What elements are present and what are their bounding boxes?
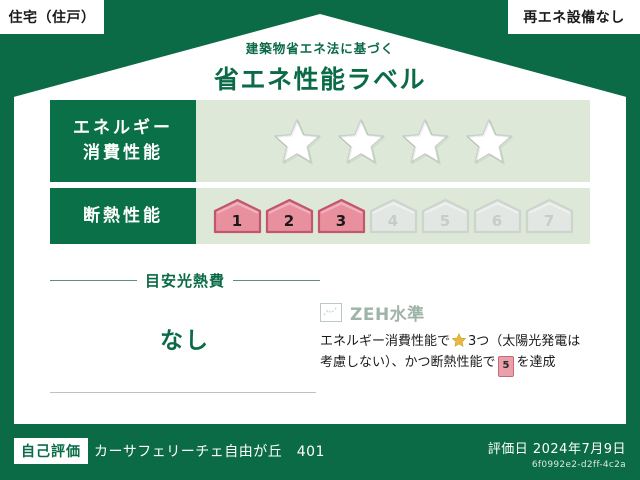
grade-value: 4 — [388, 212, 398, 234]
insulation-performance-row: 断熱性能 1234567 — [50, 188, 590, 244]
rule-right — [233, 280, 320, 281]
insulation-grade-7: 7 — [525, 198, 574, 234]
energy-performance-label-line1: エネルギー — [73, 116, 173, 141]
title-subtitle: 建築物省エネ法に基づく — [36, 38, 604, 57]
section-divider — [50, 392, 316, 393]
inline-star-icon — [451, 332, 467, 348]
zeh-title: ZEH水準 — [350, 300, 425, 325]
grade-value: 6 — [492, 212, 502, 234]
zeh-description: エネルギー消費性能で3つ（太陽光発電は考慮しない）、かつ断熱性能で5を達成 — [320, 331, 590, 377]
grade-value: 7 — [544, 212, 554, 234]
footer: 自己評価 カーサフェリーチェ自由が丘 401 評価日 2024年7月9日 6f0… — [0, 424, 640, 480]
rule-left — [50, 280, 137, 281]
star-empty-icon — [462, 115, 516, 167]
evaluation-id: 6f0992e2-d2ff-4c2a — [488, 460, 626, 470]
energy-cost-value: なし — [50, 321, 320, 355]
footer-right: 評価日 2024年7月9日 6f0992e2-d2ff-4c2a — [488, 438, 626, 470]
zeh-desc-part3: を達成 — [516, 355, 555, 370]
building-type-tag: 住宅（住戸） — [0, 0, 104, 34]
star-empty-icon — [334, 115, 388, 167]
grade-value: 3 — [336, 212, 346, 234]
grade-value: 2 — [284, 212, 294, 234]
energy-cost-section: 目安光熱費 なし — [50, 252, 320, 410]
zeh-heading: ZEH水準 — [320, 300, 590, 325]
insulation-grade-2: 2 — [265, 198, 314, 234]
insulation-performance-label: 断熱性能 — [50, 188, 196, 244]
grade-value: 5 — [440, 212, 450, 234]
insulation-performance-value: 1234567 — [196, 188, 590, 244]
evaluation-date-value: 2024年7月9日 — [533, 442, 626, 457]
evaluation-date-label: 評価日 — [488, 442, 529, 457]
zeh-grade-badge: 5 — [498, 356, 515, 377]
energy-cost-heading-text: 目安光熱費 — [145, 270, 225, 291]
star-empty-icon — [398, 115, 452, 167]
energy-label-page: 住宅（住戸） 再エネ設備なし 建築物省エネ法に基づく 省エネ性能ラベル エネルギ… — [0, 0, 640, 480]
label-card: 建築物省エネ法に基づく 省エネ性能ラベル エネルギー 消費性能 断熱性能 123… — [14, 14, 626, 424]
label-card-content: 建築物省エネ法に基づく 省エネ性能ラベル エネルギー 消費性能 断熱性能 123… — [36, 14, 604, 410]
insulation-grade-6: 6 — [473, 198, 522, 234]
property-name: カーサフェリーチェ自由が丘 401 — [94, 441, 325, 461]
insulation-grade-3: 3 — [317, 198, 366, 234]
zeh-checkbox-icon — [320, 303, 342, 322]
insulation-performance-label-text: 断熱性能 — [83, 204, 163, 229]
renewable-energy-tag: 再エネ設備なし — [508, 0, 640, 34]
star-rating — [270, 115, 516, 167]
evaluation-date: 評価日 2024年7月9日 — [488, 438, 626, 457]
energy-performance-label-line2: 消費性能 — [83, 141, 163, 166]
zeh-desc-part1: エネルギー消費性能で — [320, 334, 450, 349]
self-evaluation-badge: 自己評価 — [14, 438, 88, 464]
insulation-grade-5: 5 — [421, 198, 470, 234]
renewable-energy-label: 再エネ設備なし — [523, 7, 625, 27]
energy-performance-value — [196, 100, 590, 182]
title-block: 建築物省エネ法に基づく 省エネ性能ラベル — [36, 38, 604, 96]
energy-cost-heading: 目安光熱費 — [50, 270, 320, 291]
zeh-star-count: 3つ（太陽光発電 — [468, 334, 567, 349]
lower-section: 目安光熱費 なし ZEH水準 — [50, 252, 590, 410]
insulation-grade-1: 1 — [213, 198, 262, 234]
zeh-section: ZEH水準 エネルギー消費性能で3つ（太陽光発電は考慮しない）、かつ断熱性能で5… — [320, 252, 590, 410]
energy-performance-label: エネルギー 消費性能 — [50, 100, 196, 182]
energy-performance-row: エネルギー 消費性能 — [50, 100, 590, 182]
building-type-label: 住宅（住戸） — [9, 7, 96, 27]
footer-left: 自己評価 カーサフェリーチェ自由が丘 401 — [14, 438, 325, 464]
star-empty-icon — [270, 115, 324, 167]
grade-value: 1 — [232, 212, 242, 234]
insulation-grade-4: 4 — [369, 198, 418, 234]
insulation-grade-scale: 1234567 — [213, 198, 574, 234]
page-title: 省エネ性能ラベル — [36, 60, 604, 96]
